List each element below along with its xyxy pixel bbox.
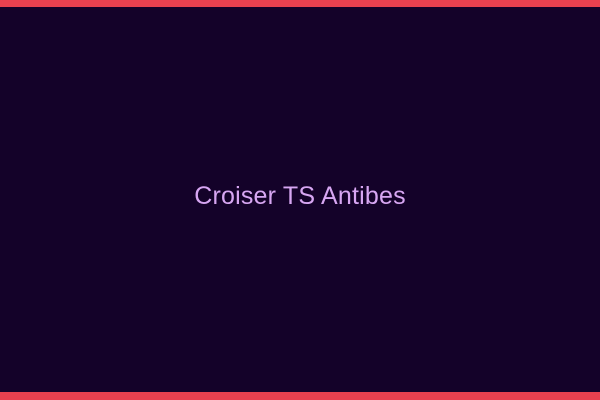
bottom-accent-band — [0, 392, 600, 400]
placeholder-title: Croiser TS Antibes — [194, 184, 406, 209]
top-accent-band — [0, 0, 600, 7]
content-stage: Croiser TS Antibes — [0, 7, 600, 392]
app-viewport: Croiser TS Antibes — [0, 0, 600, 400]
